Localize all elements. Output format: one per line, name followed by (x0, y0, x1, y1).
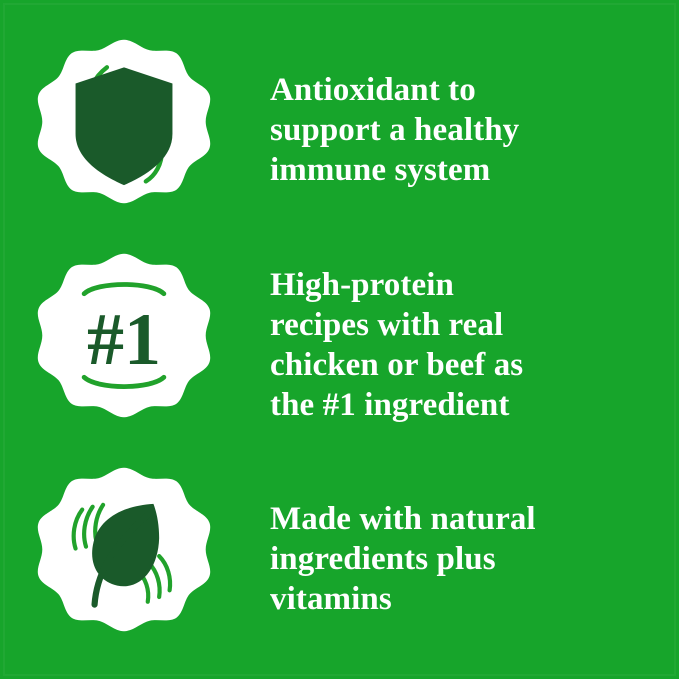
leaf-icon (29, 464, 219, 654)
feature-text-natural-ingredients: Made with natural ingredients plus vitam… (270, 499, 679, 619)
number-one-badge: #1 (0, 250, 248, 440)
feature-row-natural-ingredients: Made with natural ingredients plus vitam… (0, 464, 679, 654)
number-one-icon: #1 (29, 250, 219, 440)
antioxidant-badge (0, 36, 248, 226)
feature-row-high-protein: #1 High-protein recipes with real chicke… (0, 250, 679, 440)
feature-row-antioxidant: Antioxidant to support a healthy immune … (0, 36, 679, 226)
natural-ingredients-badge (0, 464, 248, 654)
shield-icon (29, 36, 219, 226)
benefits-poster: Antioxidant to support a healthy immune … (0, 0, 679, 679)
feature-text-antioxidant: Antioxidant to support a healthy immune … (270, 70, 679, 190)
feature-text-high-protein: High-protein recipes with real chicken o… (270, 265, 679, 425)
number-one-label: #1 (87, 299, 161, 381)
